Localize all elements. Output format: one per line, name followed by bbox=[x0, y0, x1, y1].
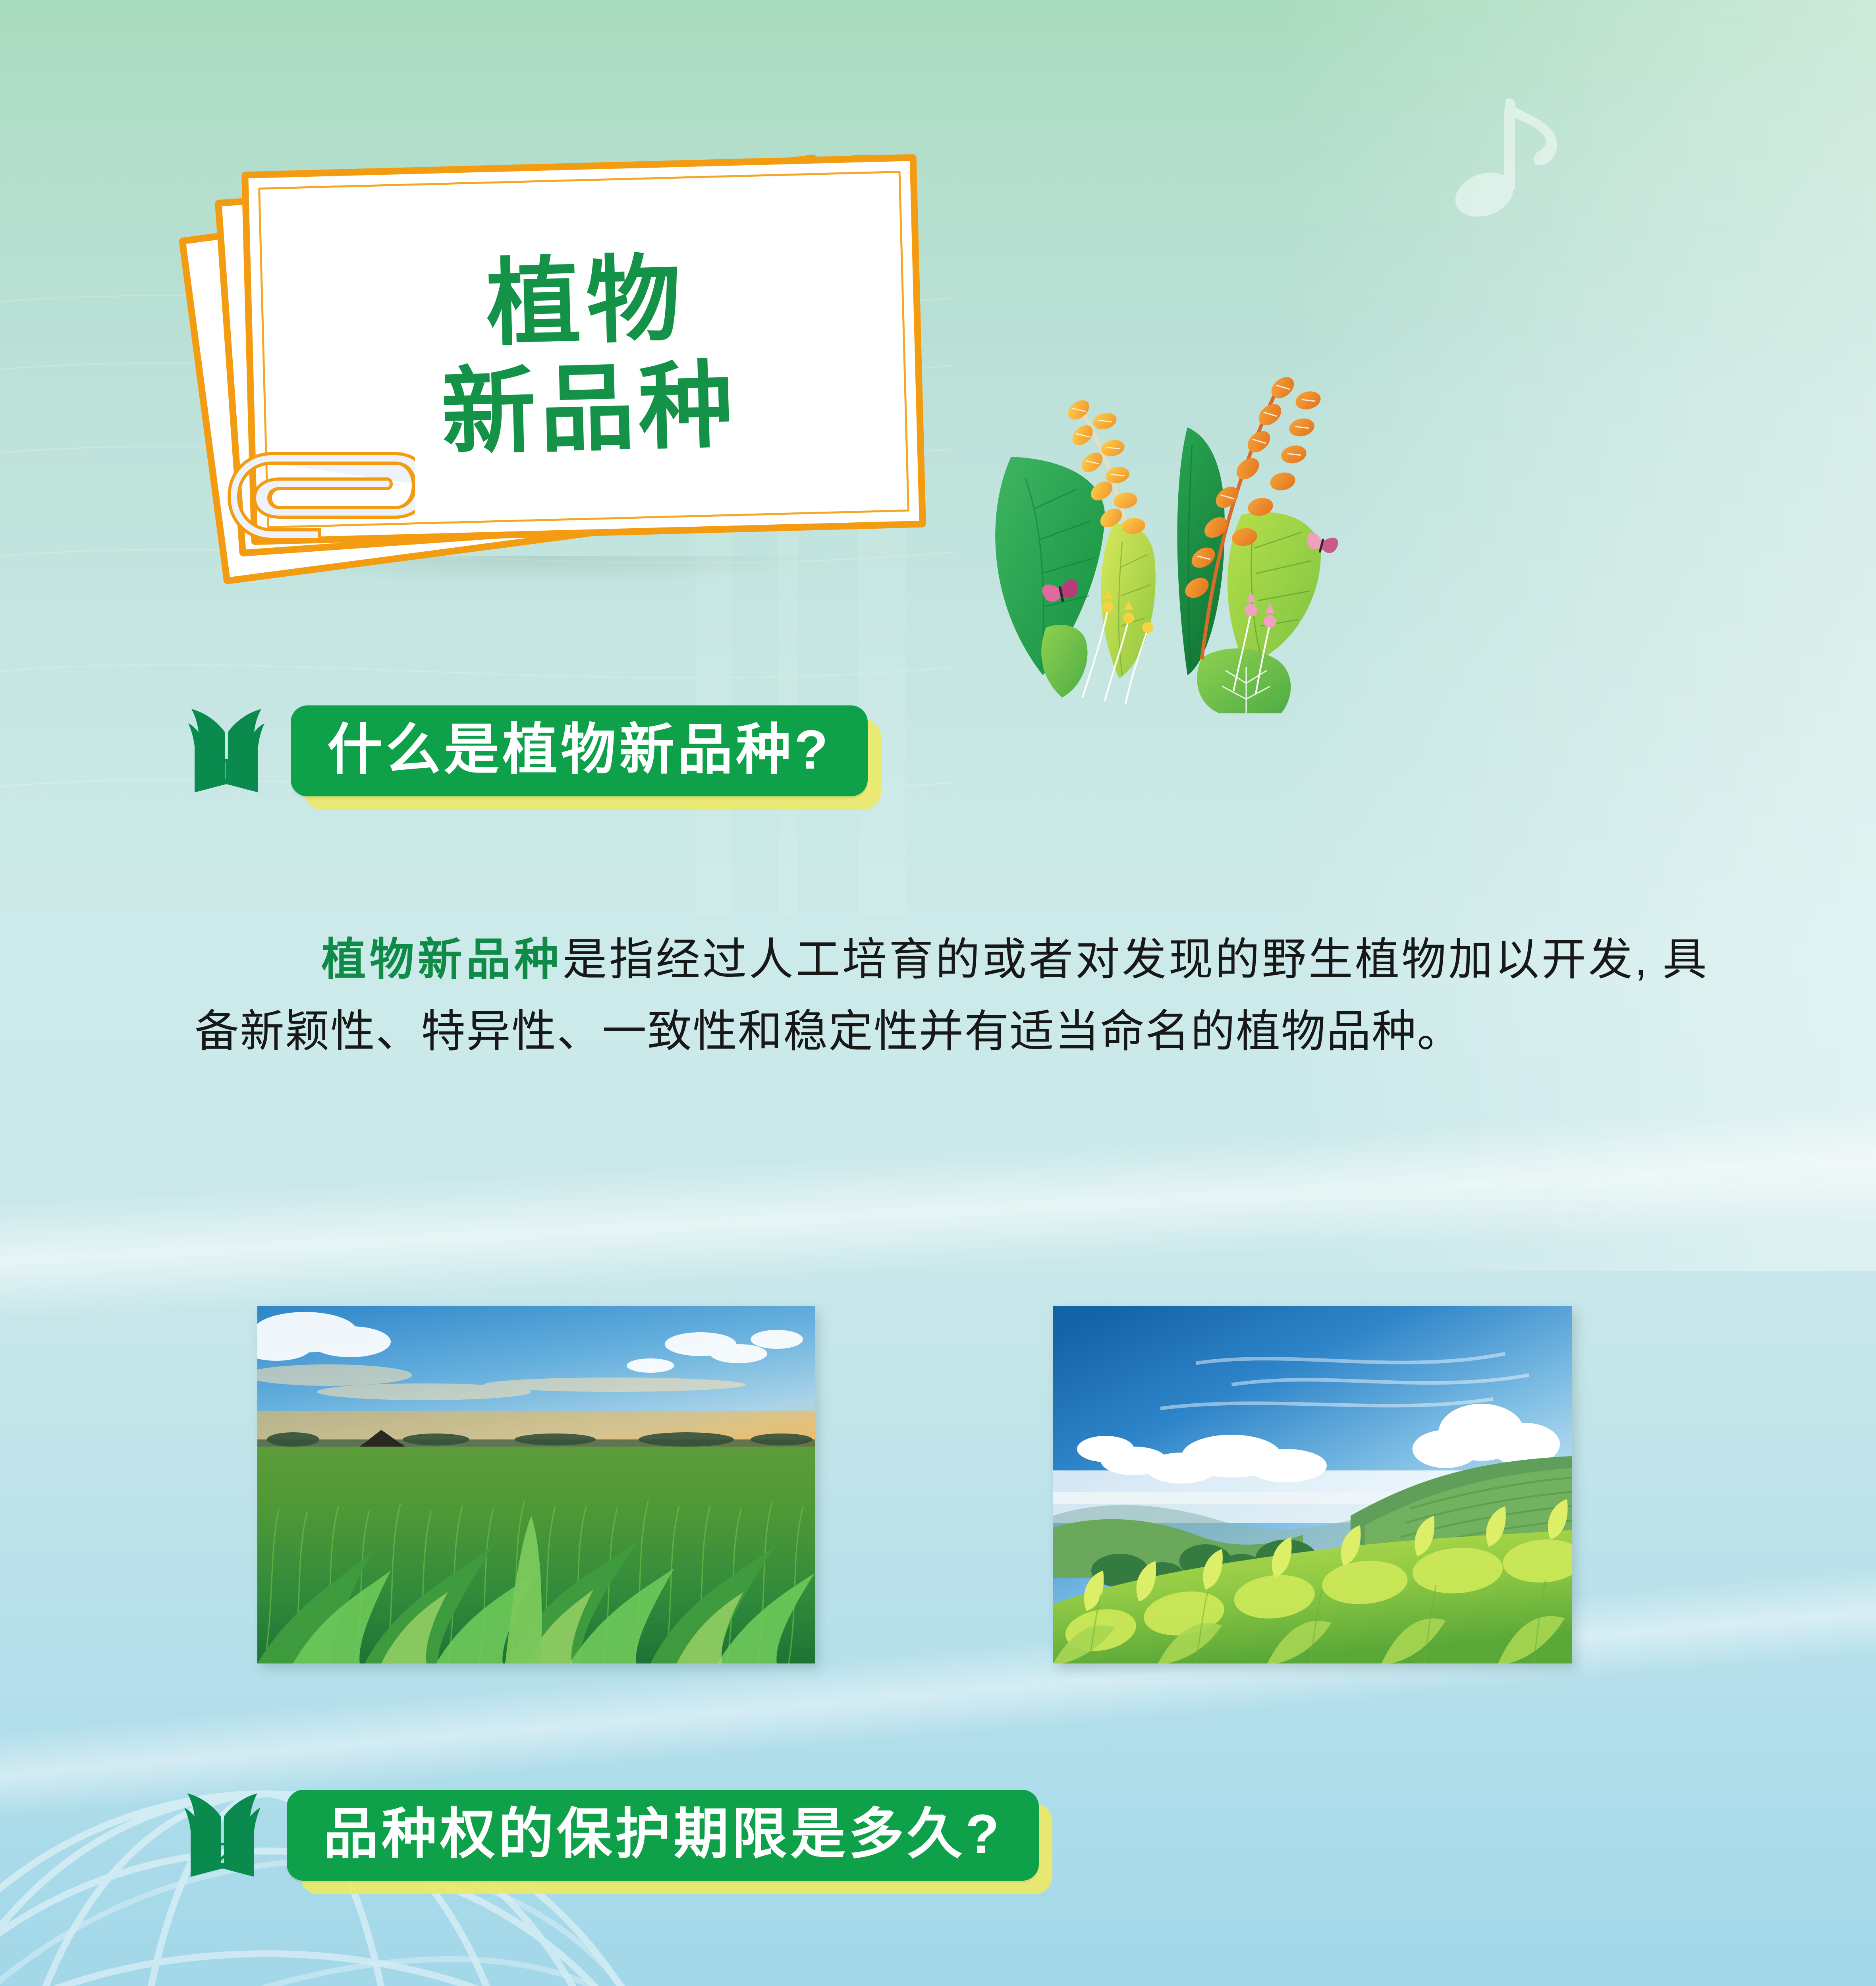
section-2-banner: 品种权的保护期限是多久? bbox=[287, 1790, 1039, 1881]
page-title-line-2: 新品种 bbox=[440, 352, 738, 467]
book-icon-number: 1 bbox=[217, 751, 236, 790]
book-icon-number: 2 bbox=[213, 1835, 232, 1875]
section-1-paragraph-highlight: 植物新品种 bbox=[320, 935, 562, 984]
paperclip-icon bbox=[224, 449, 415, 548]
page-title-line-1: 植物 bbox=[485, 245, 688, 358]
section-1-banner: 什么是植物新品种? bbox=[291, 705, 868, 796]
title-card-stack: 植物 新品种 bbox=[187, 155, 977, 584]
plant-illustration bbox=[949, 342, 1370, 715]
section-2-heading: 2 品种权的保护期限是多久? bbox=[183, 1789, 1039, 1881]
section-1-paragraph: 植物新品种是指经过人工培育的或者对发现的野生植物加以开发, 具备新颖性、特异性、… bbox=[195, 923, 1708, 1068]
music-staff-watermark bbox=[0, 1966, 913, 1986]
tea-plantation-mountain-photo bbox=[1053, 1306, 1572, 1663]
section-1-heading: 1 什么是植物新品种? bbox=[187, 705, 868, 796]
corn-field-sunset-photo bbox=[257, 1306, 815, 1663]
section-1-heading-text: 什么是植物新品种? bbox=[327, 722, 831, 777]
section-2-heading-text: 品种权的保护期限是多久? bbox=[323, 1806, 1002, 1862]
open-book-icon: 2 bbox=[183, 1789, 262, 1881]
music-note-watermark bbox=[1446, 91, 1577, 250]
open-book-icon: 1 bbox=[187, 705, 266, 796]
